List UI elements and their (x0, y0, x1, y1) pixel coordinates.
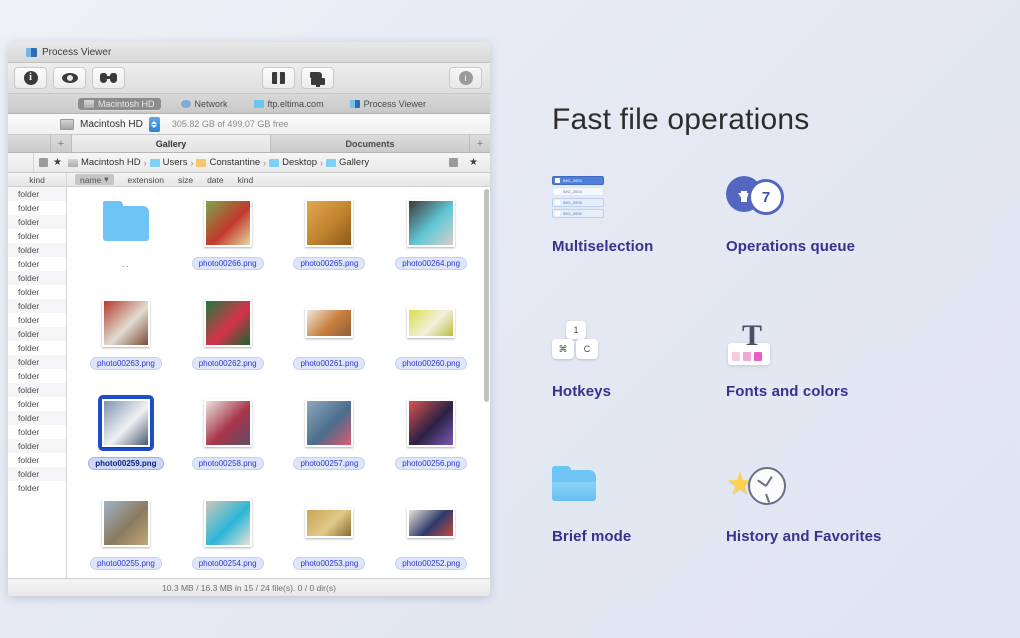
breadcrumb-separator: › (190, 158, 193, 168)
color-swatch (754, 352, 762, 361)
feature-brief-mode[interactable]: Brief mode (552, 466, 726, 545)
file-item[interactable]: photo00255.png (75, 493, 177, 578)
multiselect-row-label: IMG_2003 (563, 178, 582, 183)
scrollbar-thumb[interactable] (484, 189, 489, 402)
window-title: Process Viewer (42, 47, 111, 58)
text-letter-icon: T (742, 321, 762, 351)
feature-history-and-favorites[interactable]: ★ History and Favorites (726, 466, 1012, 545)
place-label: Network (195, 99, 228, 109)
app-window-icon (26, 48, 37, 57)
place-process-viewer[interactable]: Process Viewer (344, 98, 432, 110)
breadcrumb-actions: ★ (444, 157, 490, 168)
file-thumbnail[interactable] (405, 297, 457, 349)
kind-row[interactable]: folder (8, 341, 66, 355)
key-cap-c: C (576, 339, 598, 359)
kind-row[interactable]: folder (8, 383, 66, 397)
file-item[interactable]: photo00261.png (279, 293, 381, 393)
eye-icon (62, 73, 78, 83)
file-manager-window: Process Viewer i i Macintosh HD (8, 42, 490, 596)
info-icon: i (24, 71, 38, 85)
file-name-label[interactable]: photo00257.png (293, 457, 365, 470)
feature-label: Fonts and colors (726, 383, 1012, 400)
process-viewer-icon (350, 100, 360, 108)
breadcrumb-label: Gallery (339, 157, 369, 168)
photo-thumbnail-image (204, 299, 252, 347)
vertical-scrollbar[interactable] (484, 189, 489, 576)
feature-hotkeys[interactable]: 1 ⌘ C Hotkeys (552, 321, 726, 400)
file-thumbnail[interactable] (405, 397, 457, 449)
photo-thumbnail-image (102, 399, 150, 447)
checkbox-icon (555, 189, 560, 194)
file-name-label[interactable]: photo00262.png (192, 357, 264, 370)
breadcrumb-label: Desktop (282, 157, 317, 168)
add-tab-button-right[interactable]: + (470, 135, 490, 152)
file-thumbnail[interactable] (303, 497, 355, 549)
breadcrumb-label: Macintosh HD (81, 157, 141, 168)
column-header-date[interactable]: date (207, 175, 224, 185)
feature-multiselection[interactable]: IMG_2003 IMG_2004 IMG_2005 IMG_2006 (552, 176, 726, 255)
file-item[interactable]: photo00262.png (177, 293, 279, 393)
find-button[interactable] (92, 67, 125, 89)
history-favorites-icon: ★ (726, 466, 1012, 528)
file-name-label[interactable]: photo00260.png (395, 357, 467, 370)
file-thumbnail[interactable] (202, 497, 254, 549)
volume-stepper[interactable] (149, 117, 160, 132)
file-name-label[interactable]: photo00258.png (192, 457, 264, 470)
column-header-kind-left[interactable]: kind (8, 173, 67, 186)
promo-panel: Fast file operations IMG_2003 IMG_2004 (540, 0, 1020, 638)
view-toggle-icon[interactable] (449, 158, 458, 167)
kind-row[interactable]: folder (8, 369, 66, 383)
toolbar: i i (8, 63, 490, 94)
kind-row[interactable]: folder (8, 201, 66, 215)
breadcrumb-item-gallery[interactable]: Gallery (326, 157, 369, 168)
folder-icon (326, 159, 336, 167)
breadcrumb-spacer (8, 153, 34, 172)
file-thumbnail[interactable] (100, 297, 152, 349)
kind-row[interactable]: folder (8, 285, 66, 299)
kind-row[interactable]: folder (8, 439, 66, 453)
favorites-star-icon[interactable]: ★ (469, 157, 478, 168)
file-thumbnail[interactable] (405, 197, 457, 249)
operations-queue-icon: 7 (726, 176, 1012, 238)
color-swatch (732, 352, 740, 361)
breadcrumb-item-macintosh-hd[interactable]: Macintosh HD (68, 157, 141, 168)
hotkeys-icon: 1 ⌘ C (552, 321, 726, 383)
breadcrumb: Macintosh HD › Users › Constantine › Des… (68, 157, 444, 168)
file-name-label[interactable]: photo00263.png (90, 357, 162, 370)
checkbox-icon (555, 178, 560, 183)
photo-thumbnail-image (305, 199, 353, 247)
file-name-label[interactable]: photo00255.png (90, 557, 162, 570)
icon-grid-pane[interactable]: ..photo00266.pngphoto00265.pngphoto00264… (67, 187, 490, 578)
preview-button[interactable] (53, 67, 86, 89)
kind-row[interactable]: folder (8, 187, 66, 201)
breadcrumb-label: Users (163, 157, 188, 168)
breadcrumb-separator: › (144, 158, 147, 168)
column-header-kind[interactable]: kind (238, 175, 254, 185)
multiselect-row: IMG_2003 (552, 176, 604, 185)
panel-tab-spacer (8, 135, 51, 152)
kind-row[interactable]: folder (8, 355, 66, 369)
feature-operations-queue[interactable]: 7 Operations queue (726, 176, 1012, 255)
multiselection-icon: IMG_2003 IMG_2004 IMG_2005 IMG_2006 (552, 176, 726, 238)
volume-free-space: 305.82 GB of 499.07 GB free (172, 119, 289, 129)
status-bar: 10.3 MB / 16.3 MB in 15 / 24 file(s). 0 … (8, 578, 490, 596)
file-thumbnail[interactable] (202, 397, 254, 449)
file-item[interactable]: photo00265.png (279, 193, 381, 293)
file-thumbnail[interactable] (100, 497, 152, 549)
ftp-server-icon (254, 100, 264, 108)
photo-thumbnail-image (407, 308, 455, 338)
multiselect-row-label: IMG_2004 (563, 189, 582, 194)
breadcrumb-separator: › (320, 158, 323, 168)
add-tab-button-left[interactable]: + (51, 135, 72, 152)
places-bar: Macintosh HD Network ftp.eltima.com Proc… (8, 94, 490, 114)
file-item[interactable]: photo00252.png (380, 493, 482, 578)
folder-icon (103, 206, 149, 241)
clock-icon (748, 467, 786, 505)
place-network[interactable]: Network (175, 98, 234, 110)
file-item[interactable]: photo00260.png (380, 293, 482, 393)
kind-row[interactable]: folder (8, 481, 66, 495)
home-folder-icon (196, 159, 206, 167)
photo-thumbnail-image (305, 399, 353, 447)
multiselect-row: IMG_2004 (552, 187, 604, 196)
queue-count-badge: 7 (748, 179, 784, 215)
breadcrumb-separator: › (263, 158, 266, 168)
feature-label: Brief mode (552, 528, 726, 545)
feature-label: Multiselection (552, 238, 726, 255)
promo-title: Fast file operations (552, 103, 809, 137)
folder-icon (150, 159, 160, 167)
checkbox-icon (555, 200, 560, 205)
tab-documents[interactable]: Documents (271, 135, 470, 152)
photo-thumbnail-image (407, 508, 455, 538)
file-item[interactable]: photo00258.png (177, 393, 279, 493)
file-name-label[interactable]: photo00252.png (395, 557, 467, 570)
column-header-row: kind name ▾ extension size date kind (8, 173, 490, 187)
breadcrumb-item-desktop[interactable]: Desktop (269, 157, 317, 168)
file-name-label[interactable]: photo00265.png (293, 257, 365, 270)
kind-row[interactable]: folder (8, 243, 66, 257)
toolbar-center-group (256, 67, 334, 89)
file-thumbnail[interactable] (405, 497, 457, 549)
file-item[interactable]: photo00266.png (177, 193, 279, 293)
kind-row[interactable]: folder (8, 411, 66, 425)
photo-thumbnail-image (305, 308, 353, 338)
file-name-label[interactable]: photo00266.png (192, 257, 264, 270)
kind-row[interactable]: folder (8, 453, 66, 467)
checkbox-icon (555, 211, 560, 216)
kind-row[interactable]: folder (8, 229, 66, 243)
file-grid: ..photo00266.pngphoto00265.pngphoto00264… (67, 187, 490, 578)
place-label: Process Viewer (364, 99, 426, 109)
file-thumbnail[interactable] (100, 197, 152, 249)
kind-row[interactable]: folder (8, 327, 66, 341)
file-thumbnail[interactable] (303, 197, 355, 249)
column-header-extension[interactable]: extension (128, 175, 164, 185)
file-name-label[interactable]: photo00264.png (395, 257, 467, 270)
screen-folder-button[interactable] (301, 67, 334, 89)
photo-thumbnail-image (204, 199, 252, 247)
file-thumbnail[interactable] (202, 297, 254, 349)
folder-icon (269, 159, 279, 167)
file-item[interactable]: photo00256.png (380, 393, 482, 493)
brief-mode-icon (552, 466, 726, 528)
tab-gallery[interactable]: Gallery (72, 135, 271, 152)
file-item[interactable]: photo00253.png (279, 493, 381, 578)
fonts-and-colors-icon: T (726, 321, 1012, 383)
place-macintosh-hd[interactable]: Macintosh HD (78, 98, 161, 110)
file-name-label[interactable]: photo00253.png (293, 557, 365, 570)
dual-pane-button[interactable] (262, 67, 295, 89)
kind-row[interactable]: folder (8, 425, 66, 439)
file-name-label[interactable]: photo00261.png (293, 357, 365, 370)
downloads-button[interactable]: i (449, 67, 482, 89)
file-thumbnail[interactable] (202, 197, 254, 249)
breadcrumb-item-constantine[interactable]: Constantine (196, 157, 260, 168)
photo-thumbnail-image (102, 299, 150, 347)
feature-label: Operations queue (726, 238, 1012, 255)
parent-folder-item[interactable]: .. (75, 193, 177, 293)
panel-tab-bar: + Gallery Documents + (8, 135, 490, 153)
favorites-star-icon[interactable]: ★ (53, 157, 62, 168)
column-header-name-label: name (80, 175, 101, 185)
breadcrumb-item-users[interactable]: Users (150, 157, 188, 168)
parent-folder-label: .. (122, 259, 129, 269)
file-item[interactable]: photo00254.png (177, 493, 279, 578)
hard-drive-icon (84, 100, 94, 108)
multiselect-row-label: IMG_2005 (563, 200, 582, 205)
folder-monitor-icon (310, 72, 326, 85)
kind-row[interactable]: folder (8, 257, 66, 271)
column-header-name[interactable]: name ▾ (75, 174, 114, 185)
hard-drive-icon (68, 159, 78, 167)
kind-column-list[interactable]: folderfolderfolderfolderfolderfolderfold… (8, 187, 67, 578)
file-name-label[interactable]: photo00254.png (192, 557, 264, 570)
sort-arrow-icon: ▾ (104, 174, 108, 185)
kind-row[interactable]: folder (8, 397, 66, 411)
binoculars-icon (100, 73, 117, 83)
breadcrumb-label: Constantine (209, 157, 260, 168)
column-headers: name ▾ extension size date kind (67, 174, 490, 185)
volume-name[interactable]: Macintosh HD (80, 119, 143, 130)
file-name-label[interactable]: photo00259.png (88, 457, 163, 470)
multiselect-row: IMG_2006 (552, 209, 604, 218)
info-button[interactable]: i (14, 67, 47, 89)
photo-thumbnail-image (407, 399, 455, 447)
multiselect-row: IMG_2005 (552, 198, 604, 207)
breadcrumb-bar: ★ Macintosh HD › Users › Constantine › D… (8, 153, 490, 173)
file-item[interactable]: photo00264.png (380, 193, 482, 293)
multiselect-row-label: IMG_2006 (563, 211, 582, 216)
volume-bar: Macintosh HD 305.82 GB of 499.07 GB free (8, 114, 490, 135)
column-header-size[interactable]: size (178, 175, 193, 185)
place-ftp[interactable]: ftp.eltima.com (248, 98, 330, 110)
photo-thumbnail-image (305, 508, 353, 538)
file-browser-body: folderfolderfolderfolderfolderfolderfold… (8, 187, 490, 578)
feature-label: Hotkeys (552, 383, 726, 400)
key-cap-1: 1 (566, 321, 586, 339)
view-toggle-icon[interactable] (39, 158, 48, 167)
file-thumbnail[interactable] (303, 297, 355, 349)
file-name-label[interactable]: photo00256.png (395, 457, 467, 470)
kind-row[interactable]: folder (8, 467, 66, 481)
feature-fonts-and-colors[interactable]: T Fonts and colors (726, 321, 1012, 400)
file-item[interactable]: photo00263.png (75, 293, 177, 393)
download-circle-icon: i (459, 71, 473, 85)
key-cap-command: ⌘ (552, 339, 574, 359)
file-thumbnail[interactable] (303, 397, 355, 449)
photo-thumbnail-image (407, 199, 455, 247)
kind-row[interactable]: folder (8, 299, 66, 313)
photo-thumbnail-image (204, 399, 252, 447)
feature-label: History and Favorites (726, 528, 1012, 545)
file-item[interactable]: photo00257.png (279, 393, 381, 493)
file-item[interactable]: photo00259.png (75, 393, 177, 493)
feature-grid: IMG_2003 IMG_2004 IMG_2005 IMG_2006 (552, 176, 1012, 545)
hard-drive-icon (60, 119, 74, 130)
kind-row[interactable]: folder (8, 313, 66, 327)
photo-thumbnail-image (102, 499, 150, 547)
file-thumbnail[interactable] (100, 397, 152, 449)
network-globe-icon (181, 100, 191, 108)
window-title-bar[interactable]: Process Viewer (8, 42, 490, 63)
place-label: ftp.eltima.com (268, 99, 324, 109)
columns-icon (272, 72, 285, 84)
photo-thumbnail-image (204, 499, 252, 547)
place-label: Macintosh HD (98, 99, 155, 109)
kind-row[interactable]: folder (8, 271, 66, 285)
color-swatch (743, 352, 751, 361)
kind-row[interactable]: folder (8, 215, 66, 229)
